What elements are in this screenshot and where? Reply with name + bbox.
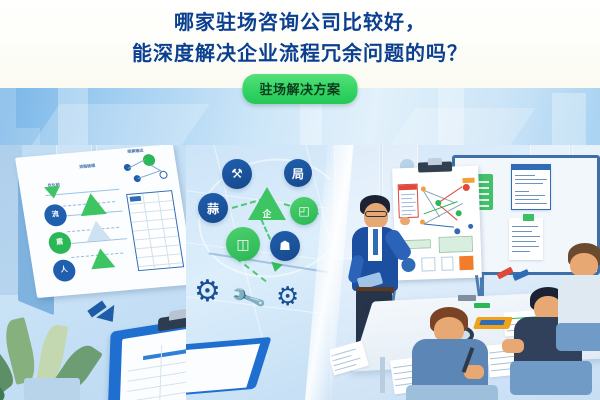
wrench-icon: 🔧 (230, 282, 267, 316)
fc-node-blue-2 (468, 224, 473, 229)
plan-document (511, 164, 551, 210)
attendee2-chair (510, 361, 592, 395)
capability-icon-1[interactable]: ⚒ (222, 159, 252, 189)
board-node-2: 盾 (47, 231, 72, 255)
attendee3-head (570, 253, 598, 277)
board-funnel-icon (44, 186, 62, 199)
glasses-icon (365, 211, 387, 217)
presenter-hand (400, 217, 410, 225)
board-triangle-3 (88, 247, 115, 269)
process-easel: 优化前 流程梳理 结果输出 流 盾 人 (14, 150, 186, 310)
fc-node-blue-1 (454, 228, 460, 234)
poster-root: 哪家驻场咨询公司比较好， 能深度解决企业流程冗余问题的吗？ 流程优化前后 ➤ 流… (0, 0, 600, 400)
flipchart-clamp-icon (418, 161, 452, 172)
attendee-figure-3 (556, 243, 600, 349)
presenter-tie (373, 229, 378, 255)
illustration-stage: 优化前 流程梳理 结果输出 流 盾 人 (0, 145, 600, 400)
board-triangle-1 (77, 192, 106, 216)
page-title-line-1: 哪家驻场咨询公司比较好， (0, 0, 600, 34)
right-meeting-panel (330, 145, 600, 400)
process-board: 优化前 流程梳理 结果输出 流 盾 人 (15, 145, 195, 298)
attendee-figure-1 (408, 307, 498, 400)
bg-building-2 (0, 88, 16, 128)
fc-edge-7 (424, 223, 454, 227)
page-title-line-2: 能深度解决企业流程冗余问题的吗？ (0, 34, 600, 65)
gear-icon-1: ⚙ (194, 277, 221, 307)
net-edge-1 (128, 159, 146, 169)
board-node-1: 流 (43, 203, 68, 227)
net-node-4 (159, 171, 168, 180)
board-label-2: 流程梳理 (79, 163, 96, 170)
capability-icon-6[interactable]: ☗ (270, 231, 300, 261)
capability-icon-5[interactable]: ◫ (226, 227, 260, 261)
capability-icon-4[interactable]: ◰ (290, 197, 318, 225)
bg-building-7 (552, 93, 586, 145)
attendee1-chair (406, 385, 498, 400)
attendee2-hand (502, 339, 524, 353)
gear-icon-2: ⚙ (276, 283, 299, 309)
fc-tag-orange (462, 178, 474, 183)
plant-pot (24, 378, 80, 400)
bg-diagonal-1 (28, 104, 209, 145)
potted-plant (0, 312, 114, 400)
net-edge-2 (138, 170, 161, 179)
attendee3-chair (556, 323, 600, 351)
fc-badge-orange (459, 256, 473, 270)
board-data-table (126, 190, 184, 271)
record-document (509, 218, 543, 260)
capability-triangle-label: 企 (248, 207, 286, 220)
fc-node-red (463, 184, 470, 191)
bg-diagonal-2 (384, 108, 535, 145)
table-leg-1 (380, 357, 385, 393)
capability-icon-3[interactable]: 蒜 (198, 193, 228, 223)
board-triangle-2 (84, 220, 111, 242)
capability-icon-2[interactable]: 局 (284, 159, 312, 187)
board-node-3: 人 (52, 259, 77, 283)
board-network (120, 151, 171, 187)
marker-gray (458, 295, 476, 301)
fc-node-green-2 (456, 210, 462, 216)
solution-badge[interactable]: 驻场解决方案 (242, 74, 357, 104)
